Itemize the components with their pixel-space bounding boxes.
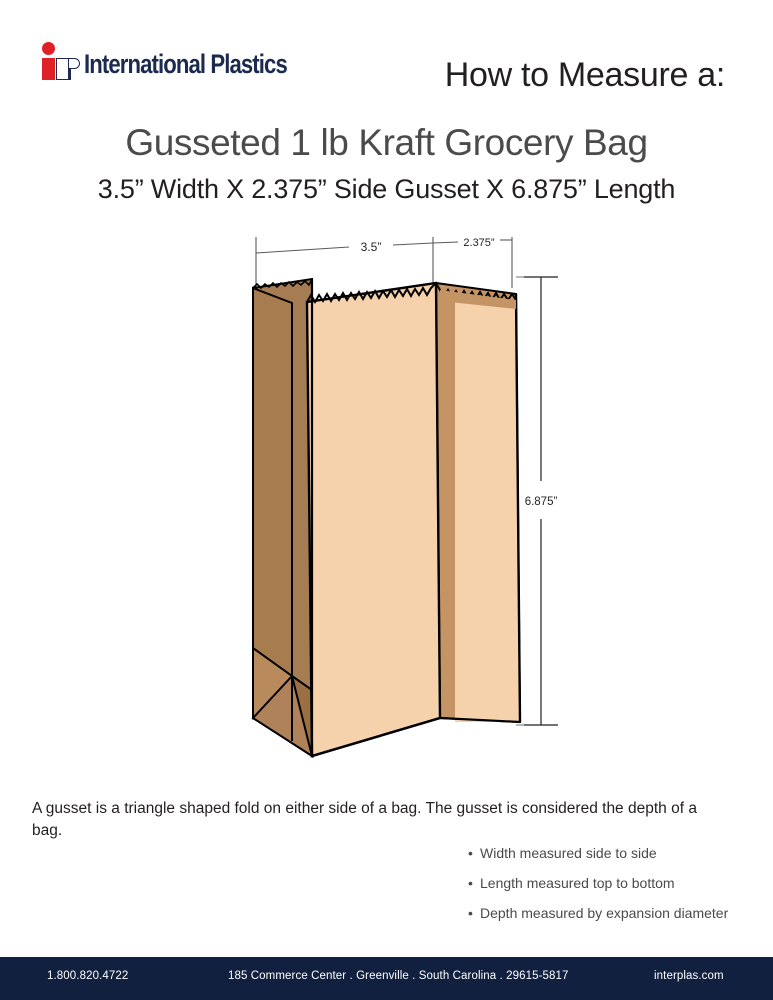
- measurement-notes-list: Width measured side to side Length measu…: [468, 845, 768, 921]
- footer-website-link[interactable]: interplas.com: [654, 970, 724, 982]
- page-root: International Plastics How to Measure a:…: [0, 0, 773, 1000]
- footer-address: 185 Commerce Center . Greenville . South…: [228, 970, 569, 982]
- page-footer: 1.800.820.4722 185 Commerce Center . Gre…: [0, 957, 773, 1000]
- bag-front-panel: [307, 283, 440, 756]
- footer-phone[interactable]: 1.800.820.4722: [47, 970, 128, 982]
- dim-line-gusset-a: [433, 242, 458, 243]
- dim-line-width-a: [256, 247, 349, 253]
- description-paragraph: A gusset is a triangle shaped fold on ei…: [32, 798, 704, 843]
- list-item: Depth measured by expansion diameter: [468, 905, 768, 921]
- dimension-label-width: 3.5”: [361, 240, 382, 254]
- list-item: Width measured side to side: [468, 845, 768, 861]
- dimension-label-gusset: 2.375”: [463, 237, 495, 249]
- bag-back-panel-face: [455, 301, 520, 722]
- dimension-label-length: 6.875”: [525, 496, 558, 508]
- measurement-notes: Width measured side to side Length measu…: [468, 845, 768, 935]
- dim-line-width-b: [393, 243, 433, 245]
- list-item: Length measured top to bottom: [468, 875, 768, 891]
- bag-illustration: [253, 279, 520, 756]
